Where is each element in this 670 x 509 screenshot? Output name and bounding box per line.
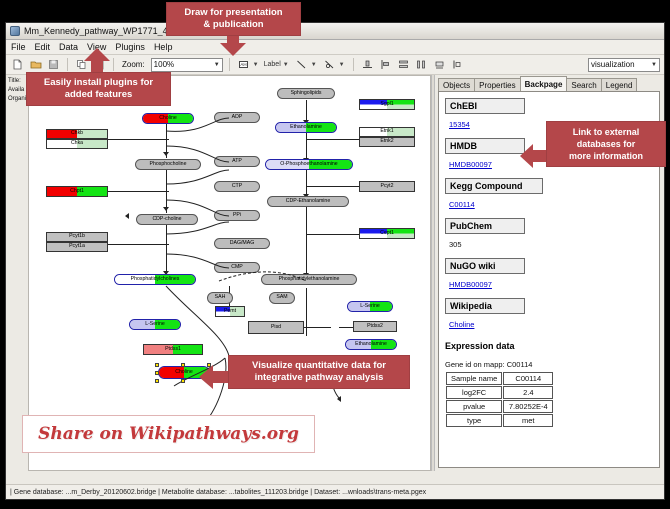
edge-etnk-enzyme <box>307 139 359 140</box>
align-top-icon[interactable] <box>360 57 375 72</box>
node-ppi[interactable]: PPi <box>214 210 260 221</box>
statusbar-text: | Gene database: ...m_Derby_20120602.bri… <box>10 489 426 496</box>
node-pcyt1b[interactable]: Pcyt1b <box>46 232 108 242</box>
table-cell-value: met <box>503 414 553 427</box>
save-disk-icon[interactable] <box>46 57 61 72</box>
node-dagmag[interactable]: DAG/MAG <box>214 238 270 249</box>
app-icon <box>10 26 20 36</box>
distribute-icon[interactable] <box>414 57 429 72</box>
node-pcyt2[interactable]: Pcyt2 <box>359 181 415 192</box>
label-tool-text[interactable]: Label <box>264 61 281 68</box>
node-sphingolipids[interactable]: Sphingolipids <box>277 88 335 99</box>
arrow-ppi-left <box>125 213 129 219</box>
backpage-link-hmdb[interactable]: HMDB00097 <box>449 160 492 169</box>
selection-handle-s[interactable] <box>181 379 185 383</box>
node-phosphatidylcholines[interactable]: Phosphatidylcholines <box>114 274 196 285</box>
zoom-value: 100% <box>154 60 212 69</box>
ungroup-icon[interactable] <box>450 57 465 72</box>
link-callout: Link to external databases for more info… <box>546 121 666 167</box>
editor-pane: Title: Availa Organi <box>6 75 431 471</box>
menu-file[interactable]: File <box>11 42 26 52</box>
table-cell-value: C00114 <box>503 372 553 385</box>
toolbar-separator <box>67 58 68 71</box>
table-cell-value: 2.4 <box>503 386 553 399</box>
node-sgpl1[interactable]: Sgpl1 <box>359 99 415 110</box>
backpage-link-nugo[interactable]: HMDB00097 <box>449 280 492 289</box>
node-cdp-choline[interactable]: CDP-choline <box>136 214 198 225</box>
tab-objects[interactable]: Objects <box>438 78 475 91</box>
selection-handle-n[interactable] <box>181 363 185 367</box>
toolbar-separator-2 <box>113 58 114 71</box>
node-sam[interactable]: SAM <box>269 292 295 304</box>
selection-handle-w[interactable] <box>155 371 159 375</box>
link-callout-line1: Link to external <box>553 126 659 138</box>
table-cell-value: 7.80252E-4 <box>503 400 553 413</box>
open-folder-icon[interactable] <box>28 57 43 72</box>
draw-callout-line2: & publication <box>173 19 294 31</box>
node-adp[interactable]: ADP <box>214 112 260 123</box>
node-chka[interactable]: Chka <box>46 139 108 149</box>
node-ethanolamine-right[interactable]: Ethanolamine <box>345 339 397 350</box>
tab-legend[interactable]: Legend <box>601 78 638 91</box>
node-etnk1[interactable]: Etnk1 <box>359 127 415 137</box>
backpage-heading-chebi: ChEBI <box>445 98 525 114</box>
table-row: Sample name C00114 <box>446 372 553 385</box>
visualization-value: visualization <box>591 60 649 69</box>
side-panel-tabs: Objects Properties Backpage Search Legen… <box>435 75 664 91</box>
node-ethanolamine-top[interactable]: Ethanolamine <box>275 122 337 133</box>
backpage-heading-hmdb: HMDB <box>445 138 525 154</box>
visualization-chevron-icon: ▼ <box>651 62 657 68</box>
stack-vertical-icon[interactable] <box>396 57 411 72</box>
edge-cdpcholine-pc <box>166 224 167 276</box>
align-left-icon[interactable] <box>378 57 393 72</box>
node-phosphatidylethanolamine[interactable]: Phosphatidylethanolamine <box>261 274 357 285</box>
node-pisd[interactable]: Pisd <box>248 321 304 334</box>
visualization-combobox[interactable]: visualization ▼ <box>588 58 660 72</box>
node-l-serine-left[interactable]: L-Serine <box>129 319 181 330</box>
node-ctp[interactable]: CTP <box>214 181 260 192</box>
line-chevron-icon[interactable]: ▼ <box>311 62 317 68</box>
plugins-callout-arrow-icon <box>82 48 112 74</box>
line-icon[interactable] <box>294 57 309 72</box>
backpage-heading-pubchem: PubChem <box>445 218 525 234</box>
node-atp[interactable]: ATP <box>214 156 260 167</box>
backpage-link-chebi[interactable]: 15354 <box>449 120 470 129</box>
svg-text:AH: AH <box>240 62 246 67</box>
datanode-icon[interactable]: AH <box>236 57 251 72</box>
draw-callout-line1: Draw for presentation <box>173 7 294 19</box>
node-chpt1[interactable]: Chpt1 <box>46 186 108 197</box>
menu-data[interactable]: Data <box>59 42 78 52</box>
table-cell-key: type <box>446 414 502 427</box>
node-cdp-ethanolamine[interactable]: CDP-Ethanolamine <box>267 196 349 207</box>
statusbar: | Gene database: ...m_Derby_20120602.bri… <box>6 484 664 499</box>
selection-handle-nw[interactable] <box>155 363 159 367</box>
gene-id-line: Gene id on mapp: C00114 <box>445 360 653 369</box>
backpage-value-pubchem: 305 <box>449 240 462 249</box>
visualize-callout-line1: Visualize quantitative data for <box>235 360 403 372</box>
plugins-callout-line2: added features <box>33 89 164 101</box>
menu-edit[interactable]: Edit <box>35 42 51 52</box>
plugins-callout: Easily install plugins for added feature… <box>26 72 171 106</box>
node-ptdss2[interactable]: Ptdss2 <box>353 321 397 332</box>
arrow-choline-pcholine <box>163 152 169 156</box>
visualize-callout-arrow-icon <box>199 364 231 390</box>
expression-data-title: Expression data <box>445 341 653 351</box>
zoom-combobox[interactable]: 100% ▼ <box>151 58 223 72</box>
node-l-serine-right[interactable]: L-Serine <box>347 301 393 312</box>
label-chevron-icon[interactable]: ▼ <box>283 62 289 68</box>
backpage-heading-kegg: Kegg Compound <box>445 178 543 194</box>
tab-search[interactable]: Search <box>566 78 601 91</box>
plugins-callout-line1: Easily install plugins for <box>33 77 164 89</box>
share-banner: Share on Wikipathways.org <box>22 415 315 453</box>
tab-backpage[interactable]: Backpage <box>520 76 568 91</box>
chevron-down-icon: ▼ <box>214 62 220 68</box>
backpage-link-wikipedia[interactable]: Choline <box>449 320 474 329</box>
node-cmp[interactable]: CMP <box>214 262 260 273</box>
share-banner-text: Share on Wikipathways.org <box>38 424 299 444</box>
toolbar-separator-4 <box>353 58 354 71</box>
node-cept1[interactable]: Cept1 <box>359 228 415 239</box>
node-phosphocholine[interactable]: Phosphocholine <box>135 159 201 170</box>
edge-cept1-enzyme <box>307 234 359 235</box>
group-icon[interactable] <box>432 57 447 72</box>
new-document-icon[interactable] <box>10 57 25 72</box>
titlebar: Mm_Kennedy_pathway_WP1771_45176.gpml <box>6 23 664 40</box>
anchor-line-icon[interactable] <box>322 57 337 72</box>
tab-properties[interactable]: Properties <box>474 78 520 91</box>
node-o-phosphoethanolamine[interactable]: O-Phosphoethanolamine <box>265 159 353 170</box>
menu-plugins[interactable]: Plugins <box>115 42 145 52</box>
anchor-chevron-icon[interactable]: ▼ <box>339 62 345 68</box>
link-callout-line2: databases for <box>553 138 659 150</box>
menu-help[interactable]: Help <box>154 42 173 52</box>
arrow-to-ethanolamine-right <box>337 396 341 402</box>
node-chkb[interactable]: Chkb <box>46 129 108 139</box>
node-ptdss1[interactable]: Ptdss1 <box>143 344 203 355</box>
table-cell-key: Sample name <box>446 372 502 385</box>
expression-table: Sample name C00114 log2FC 2.4 pvalue 7.8… <box>445 371 554 428</box>
edge-pe-down <box>306 288 307 336</box>
table-cell-key: log2FC <box>446 386 502 399</box>
backpage-link-kegg[interactable]: C00114 <box>449 200 475 209</box>
zoom-label: Zoom: <box>122 60 145 69</box>
link-callout-arrow-icon <box>520 143 548 169</box>
visualize-callout: Visualize quantitative data for integrat… <box>228 355 410 389</box>
backpage-heading-wikipedia: Wikipedia <box>445 298 525 314</box>
selection-handle-sw[interactable] <box>155 379 159 383</box>
node-pemt[interactable]: Pemt <box>215 306 245 317</box>
toolbar-separator-3 <box>229 58 230 71</box>
node-etnk2[interactable]: Etnk2 <box>359 137 415 147</box>
pathway-canvas[interactable]: Sphingolipids Ethanolamine O-Phosphoetha… <box>28 75 431 471</box>
node-choline-top[interactable]: Choline <box>142 113 194 124</box>
edge-cdpethn-pe <box>306 207 307 279</box>
edge-pcyt2-enzyme <box>307 186 359 187</box>
node-pcyt1a[interactable]: Pcyt1a <box>46 242 108 252</box>
screenshot-root: Mm_Kennedy_pathway_WP1771_45176.gpml Fil… <box>0 0 670 509</box>
table-cell-key: pvalue <box>446 400 502 413</box>
datanode-chevron-icon[interactable]: ▼ <box>253 62 259 68</box>
table-row: log2FC 2.4 <box>446 386 553 399</box>
visualize-callout-line2: integrative pathway analysis <box>235 372 403 384</box>
table-row: pvalue 7.80252E-4 <box>446 400 553 413</box>
node-sah[interactable]: SAH <box>207 292 233 304</box>
link-callout-line3: more information <box>553 150 659 162</box>
backpage-heading-nugo: NuGO wiki <box>445 258 525 274</box>
table-row: type met <box>446 414 553 427</box>
arrow-pcholine-cdpcholine <box>163 207 169 211</box>
draw-callout: Draw for presentation & publication <box>166 2 301 36</box>
